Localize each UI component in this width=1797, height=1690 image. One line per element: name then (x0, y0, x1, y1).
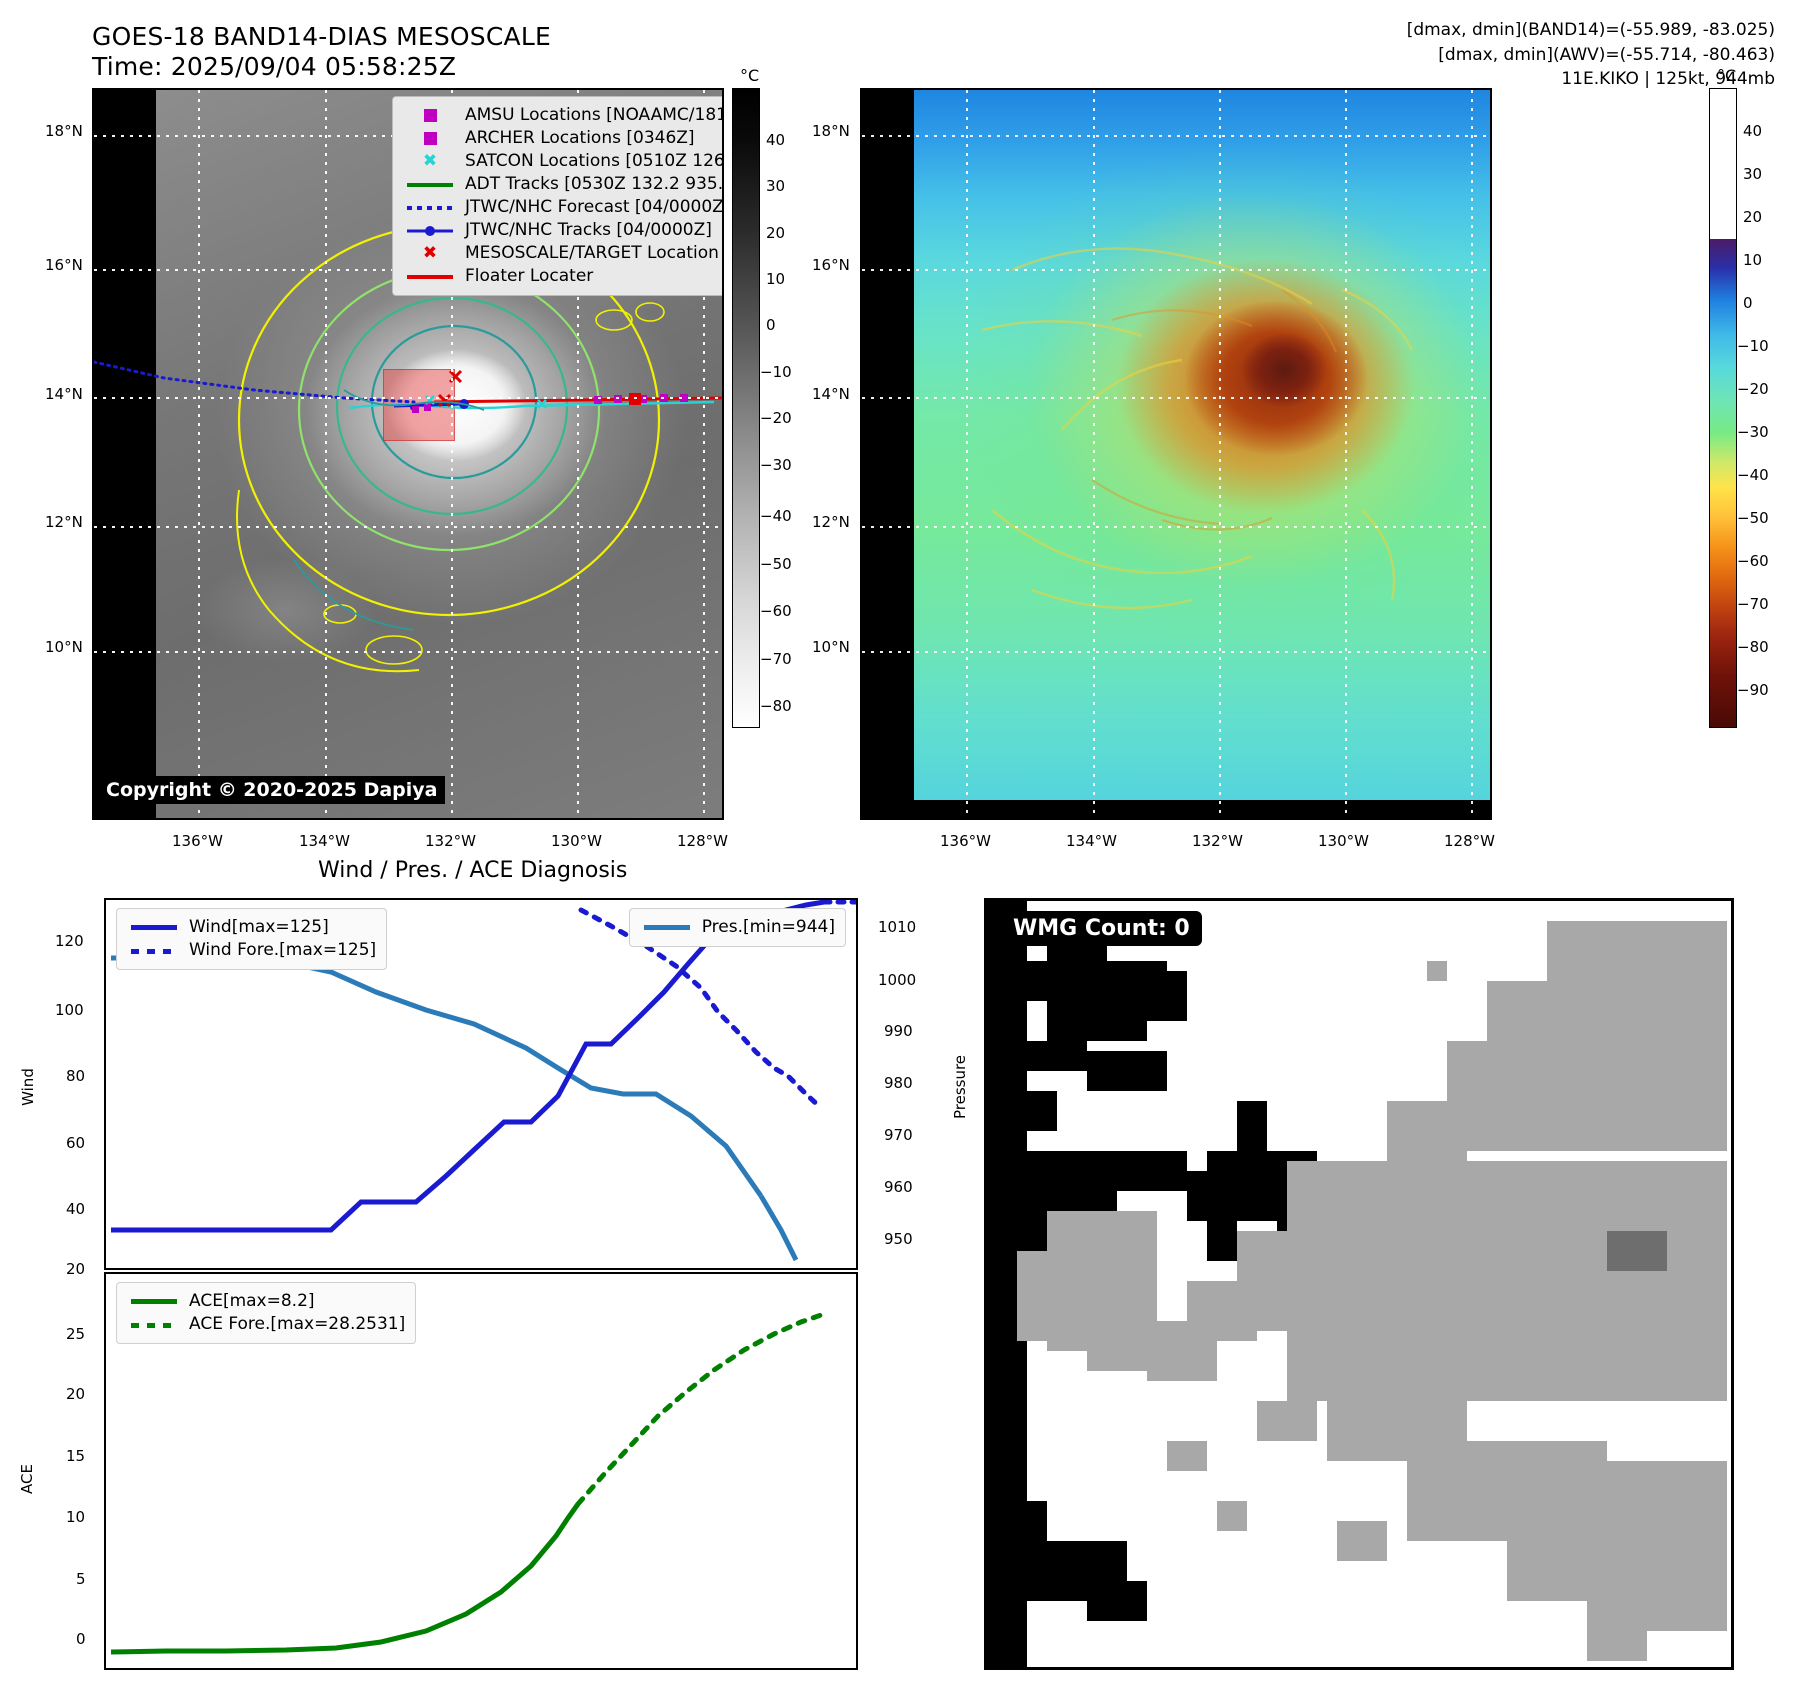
x-marker-icon: ✖ (403, 153, 457, 171)
page-timestamp: Time: 2025/09/04 05:58:25Z (92, 52, 456, 81)
lon-tick: 134°W (299, 832, 350, 850)
map-legend[interactable]: AMSU Locations [NOAAMC/1815Z 104 973] AR… (392, 96, 724, 296)
legend-item-wind[interactable]: Wind[max=125] (127, 916, 376, 939)
ace-legend[interactable]: ACE[max=8.2] ACE Fore.[max=28.2531] (116, 1282, 416, 1344)
lon-tick: 130°W (551, 832, 602, 850)
lon-tick: 128°W (677, 832, 728, 850)
ace-ytick: 0 (76, 1630, 86, 1648)
lat-tick: 16°N (45, 256, 83, 274)
lat-tick: 18°N (812, 122, 850, 140)
ace-axis-label: ACE (18, 1454, 36, 1504)
lon-tick: 136°W (940, 832, 991, 850)
lat-tick: 10°N (45, 638, 83, 656)
ace-ytick: 10 (66, 1508, 85, 1526)
colorbar-tick: −90 (1737, 681, 1769, 699)
line-marker-icon (127, 919, 181, 937)
square-marker-icon (403, 130, 457, 148)
legend-item-amsu[interactable]: AMSU Locations [NOAAMC/1815Z 104 973] (403, 104, 724, 127)
legend-item-mesoscale-target[interactable]: ✖ MESOSCALE/TARGET Location (403, 242, 724, 265)
colorbar-tick: −30 (1737, 423, 1769, 441)
x-marker-icon: ✖ (403, 245, 457, 263)
lon-tick: 130°W (1318, 832, 1369, 850)
legend-label: Floater Locater (465, 264, 593, 288)
wind-ytick: 120 (55, 932, 84, 950)
pressure-axis-label: Pressure (951, 1047, 969, 1127)
colorbar-tick: −80 (1737, 638, 1769, 656)
colorbar-tick: −40 (1737, 466, 1769, 484)
legend-label: MESOSCALE/TARGET Location (465, 241, 719, 265)
legend-item-archer[interactable]: ARCHER Locations [0346Z] (403, 127, 724, 150)
colorbar-tick: −70 (1737, 595, 1769, 613)
lon-tick: 134°W (1066, 832, 1117, 850)
pressure-ytick: 960 (884, 1178, 913, 1196)
legend-label: Wind Fore.[max=125] (189, 938, 376, 962)
pressure-ytick: 950 (884, 1230, 913, 1248)
map-gridlines (862, 90, 1492, 820)
pressure-ytick: 980 (884, 1074, 913, 1092)
wmg-count-badge: WMG Count: 0 (1001, 911, 1202, 946)
colorbar-tick: 20 (766, 224, 785, 242)
lat-tick: 14°N (45, 385, 83, 403)
colorbar-tick: −30 (760, 456, 792, 474)
lat-tick: 12°N (812, 513, 850, 531)
colorbar-tick: 40 (766, 131, 785, 149)
legend-item-pressure[interactable]: Pres.[min=944] (640, 916, 835, 939)
colorbar-tick: 30 (766, 177, 785, 195)
legend-item-wind-forecast[interactable]: Wind Fore.[max=125] (127, 939, 376, 962)
colorbar-tick: −20 (760, 409, 792, 427)
colorbar-enhanced-ir (1709, 88, 1737, 728)
legend-label: ACE[max=8.2] (189, 1289, 315, 1313)
diagnosis-panel-title: Wind / Pres. / ACE Diagnosis (318, 858, 627, 883)
colorbar-tick: −60 (760, 602, 792, 620)
dotted-line-icon (127, 942, 181, 960)
colorbar-unit-label: °C (740, 66, 759, 85)
dotted-line-icon (403, 199, 457, 217)
lon-tick: 132°W (1192, 832, 1243, 850)
colorbar-tick: 0 (1743, 294, 1753, 312)
wind-ytick: 20 (66, 1260, 85, 1278)
colorbar-tick: 20 (1743, 208, 1762, 226)
colorbar-tick: 30 (1743, 165, 1762, 183)
ace-ytick: 5 (76, 1570, 86, 1588)
legend-item-jtwc-tracks[interactable]: JTWC/NHC Tracks [04/0000Z] (403, 219, 724, 242)
line-marker-icon (127, 1293, 181, 1311)
line-dot-icon (403, 222, 457, 240)
ace-ytick: 15 (66, 1447, 85, 1465)
square-marker-icon (403, 107, 457, 125)
lat-tick: 16°N (812, 256, 850, 274)
colorbar-tick: −70 (760, 650, 792, 668)
line-marker-icon (640, 919, 694, 937)
legend-label: ARCHER Locations [0346Z] (465, 126, 695, 150)
legend-label: JTWC/NHC Forecast [04/0000Z] (465, 195, 724, 219)
colorbar-tick: −10 (1737, 337, 1769, 355)
legend-item-jtwc-forecast[interactable]: JTWC/NHC Forecast [04/0000Z] (403, 196, 724, 219)
legend-item-satcon[interactable]: ✖ SATCON Locations [0510Z 126 946] (403, 150, 724, 173)
wind-ytick: 40 (66, 1200, 85, 1218)
colorbar-tick: −80 (760, 697, 792, 715)
wind-pressure-axes[interactable]: Wind[max=125] Wind Fore.[max=125] Pres.[… (104, 898, 858, 1270)
legend-label: Wind[max=125] (189, 915, 329, 939)
legend-item-ace-forecast[interactable]: ACE Fore.[max=28.2531] (127, 1313, 405, 1336)
colorbar-unit-label: °C (1717, 66, 1736, 85)
colorbar-tick: 10 (1743, 251, 1762, 269)
line-marker-icon (403, 176, 457, 194)
colorbar-tick: −40 (760, 507, 792, 525)
legend-label: AMSU Locations [NOAAMC/1815Z 104 973] (465, 103, 724, 127)
legend-item-adt[interactable]: ADT Tracks [0530Z 132.2 935.3] (403, 173, 724, 196)
wind-axis-label: Wind (19, 1057, 37, 1117)
colorbar-tick: −50 (1737, 509, 1769, 527)
colorbar-tick: −10 (760, 363, 792, 381)
satellite-image-grayscale[interactable]: AMSU Locations [NOAAMC/1815Z 104 973] AR… (92, 88, 724, 820)
lat-tick: 14°N (812, 385, 850, 403)
pressure-ytick: 990 (884, 1022, 913, 1040)
legend-label: ADT Tracks [0530Z 132.2 935.3] (465, 172, 724, 196)
stat-band14: [dmax, dmin](BAND14)=(-55.989, -83.025) (1135, 18, 1775, 43)
colorbar-tick: −20 (1737, 380, 1769, 398)
ace-ytick: 25 (66, 1325, 85, 1343)
dotted-line-icon (127, 1316, 181, 1334)
colorbar-tick: −60 (1737, 552, 1769, 570)
lon-tick: 136°W (172, 832, 223, 850)
lat-tick: 12°N (45, 513, 83, 531)
legend-label: SATCON Locations [0510Z 126 946] (465, 149, 724, 173)
stats-block: [dmax, dmin](BAND14)=(-55.989, -83.025) … (1135, 18, 1775, 92)
lon-tick: 132°W (425, 832, 476, 850)
colorbar-tick: −50 (760, 555, 792, 573)
legend-item-floater-locater[interactable]: Floater Locater (403, 265, 724, 288)
stat-awv: [dmax, dmin](AWV)=(-55.714, -80.463) (1135, 43, 1775, 68)
lat-tick: 18°N (45, 122, 83, 140)
copyright-notice: Copyright © 2020-2025 Dapiya (98, 776, 445, 804)
colorbar-tick: 0 (766, 316, 776, 334)
legend-label: JTWC/NHC Tracks [04/0000Z] (465, 218, 712, 242)
pressure-legend[interactable]: Pres.[min=944] (629, 908, 846, 947)
legend-label: ACE Fore.[max=28.2531] (189, 1312, 405, 1336)
line-marker-icon (403, 268, 457, 286)
pressure-ytick: 1000 (878, 971, 916, 989)
page-title: GOES-18 BAND14-DIAS MESOSCALE (92, 22, 551, 51)
wind-ytick: 80 (66, 1067, 85, 1085)
lat-tick: 10°N (812, 638, 850, 656)
lon-tick: 128°W (1444, 832, 1495, 850)
wind-ytick: 60 (66, 1134, 85, 1152)
colorbar-grayscale (732, 88, 760, 728)
wind-ytick: 100 (55, 1001, 84, 1019)
pressure-ytick: 970 (884, 1126, 913, 1144)
satellite-image-color[interactable] (860, 88, 1492, 820)
colorbar-tick: 40 (1743, 122, 1762, 140)
legend-item-ace[interactable]: ACE[max=8.2] (127, 1290, 405, 1313)
colorbar-tick: 10 (766, 270, 785, 288)
ace-ytick: 20 (66, 1385, 85, 1403)
pressure-ytick: 1010 (878, 918, 916, 936)
ace-axes[interactable]: ACE[max=8.2] ACE Fore.[max=28.2531] (104, 1272, 858, 1670)
wmg-bitmap[interactable]: WMG Count: 0 (984, 898, 1734, 1670)
wind-legend[interactable]: Wind[max=125] Wind Fore.[max=125] (116, 908, 387, 970)
legend-label: Pres.[min=944] (702, 915, 835, 939)
